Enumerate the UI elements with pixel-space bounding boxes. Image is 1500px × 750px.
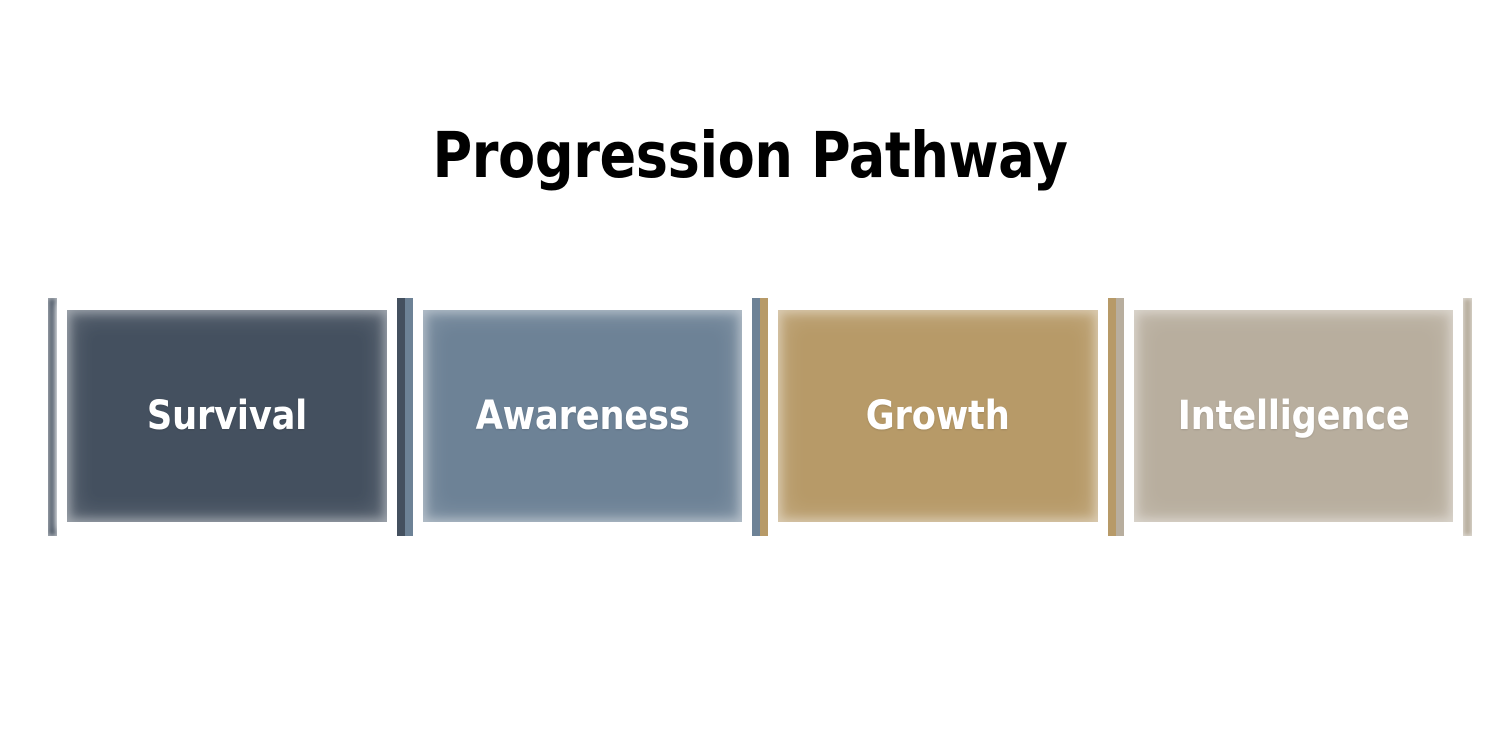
connector-2-right-half: [760, 298, 768, 536]
diagram-canvas: Progression Pathway Survival Awareness: [0, 0, 1500, 750]
connector-2-left-half: [752, 298, 760, 536]
progression-pathway: Survival Awareness Growth: [48, 298, 1472, 536]
stage-card-awareness[interactable]: Awareness: [418, 305, 748, 527]
connector-3-left-half: [1108, 298, 1116, 536]
stage-slot-3[interactable]: Growth: [768, 298, 1108, 536]
connector-3-right-half: [1116, 298, 1124, 536]
stage-label-awareness: Awareness: [475, 393, 689, 439]
connector-1-left-half: [397, 298, 405, 536]
stage-card-growth[interactable]: Growth: [773, 305, 1103, 527]
stage-label-intelligence: Intelligence: [1177, 393, 1409, 439]
stage-connector-1: [397, 298, 413, 536]
stage-connector-2: [752, 298, 768, 536]
stage-label-survival: Survival: [147, 393, 307, 439]
page-title: Progression Pathway: [105, 124, 1395, 187]
stage-slot-1[interactable]: Survival: [57, 298, 397, 536]
stage-card-survival[interactable]: Survival: [62, 305, 392, 527]
pathway-start-cap: [48, 298, 57, 536]
stage-label-growth: Growth: [866, 393, 1010, 439]
connector-1-right-half: [405, 298, 413, 536]
stage-card-intelligence[interactable]: Intelligence: [1129, 305, 1459, 527]
pathway-end-cap: [1463, 298, 1472, 536]
stage-slot-4[interactable]: Intelligence: [1124, 298, 1464, 536]
stage-slot-2[interactable]: Awareness: [413, 298, 753, 536]
stage-connector-3: [1108, 298, 1124, 536]
